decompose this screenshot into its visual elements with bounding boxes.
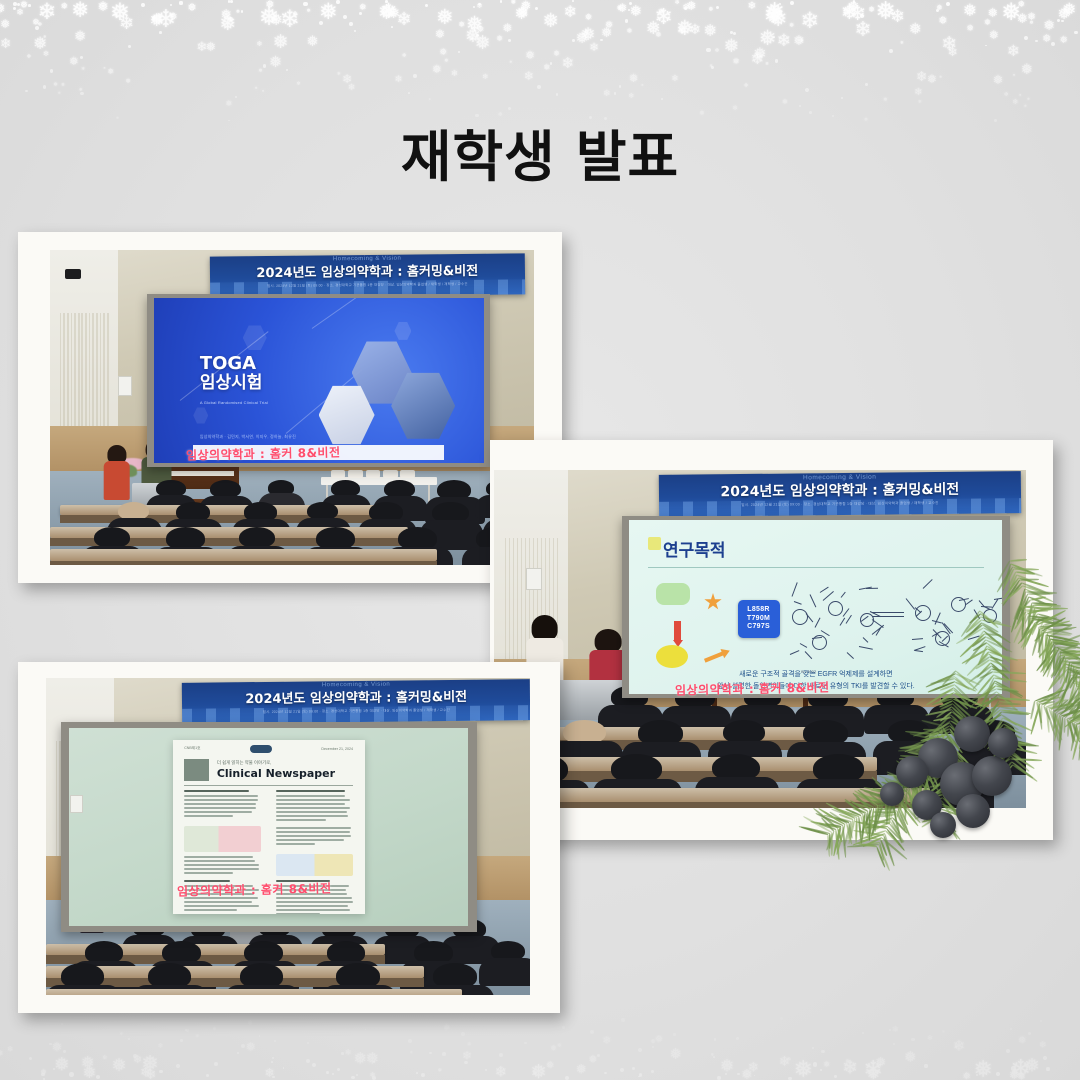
page-title: 재학생 발표	[0, 112, 1080, 192]
pine-needle	[1073, 723, 1079, 739]
wall-poster	[526, 568, 542, 590]
snow-dot	[354, 30, 356, 32]
pine-needle	[1053, 655, 1065, 676]
snowflake-icon: ❅	[900, 41, 904, 45]
snowflake-icon: ❅	[33, 36, 47, 53]
snow-dot	[736, 1037, 740, 1041]
snow-dot	[716, 6, 720, 10]
snow-dot	[651, 1070, 654, 1073]
snowflake-icon: ❄	[800, 10, 819, 33]
snow-dot	[1024, 36, 1028, 40]
snow-dot	[263, 64, 266, 67]
snow-dot	[821, 1050, 824, 1053]
snowflake-icon: ❅	[525, 50, 535, 62]
chemical-structure-left	[782, 583, 902, 661]
photo-card-clinical-newspaper[interactable]: Homecoming & Vision 2024년도 임상의약학과 : 홈커밍&…	[18, 662, 560, 1013]
pine-needle	[1068, 694, 1080, 712]
snowflake-icon: ❄	[348, 83, 356, 92]
snowflake-icon: ❅	[794, 1056, 813, 1079]
snowflake-icon: ❅	[629, 74, 639, 85]
snowflake-icon: ❅	[627, 28, 633, 35]
snow-dot	[812, 1047, 814, 1049]
snowflake-icon: ❄	[337, 72, 341, 77]
snow-dot	[35, 26, 39, 30]
presenter-body	[103, 461, 130, 500]
chemical-bond	[859, 586, 872, 589]
pine-needle	[1054, 699, 1069, 712]
snowflake-icon: ❅	[1017, 0, 1025, 9]
pine-needle	[1059, 648, 1080, 653]
snowflake-icon: ❄	[641, 84, 644, 87]
heading-bullet-icon	[648, 537, 661, 550]
chemical-structure-right	[905, 579, 1002, 659]
snow-dot	[652, 1046, 654, 1048]
snowflake-icon: ❅	[69, 56, 79, 68]
snow-dot	[214, 1062, 218, 1066]
pine-needle	[1053, 645, 1056, 669]
snowflake-icon: ❅	[306, 9, 310, 14]
snowflake-icon: ❅	[759, 28, 777, 49]
snowflake-icon: ❄	[477, 4, 483, 11]
snowflake-icon: ❄	[1010, 1053, 1031, 1078]
newsletter-text-line	[276, 799, 350, 801]
snow-dot	[337, 1068, 340, 1071]
snowflake-icon: ❅	[1029, 21, 1033, 26]
snow-dot	[230, 0, 233, 3]
projection-screen: 연구목적 L858R T790M C797S	[622, 516, 1010, 699]
snowflake-icon: ❅	[110, 1, 130, 25]
lecture-desk	[50, 549, 437, 560]
table-item	[331, 470, 346, 478]
pine-needle	[1059, 650, 1076, 653]
snowflake-icon: ❅	[205, 41, 215, 53]
wall-poster	[118, 376, 132, 396]
snowflake-icon: ❅	[576, 31, 589, 46]
snow-dot	[133, 1054, 137, 1058]
chemical-bond	[814, 618, 820, 629]
snow-dot	[473, 6, 475, 8]
pine-needle	[1059, 717, 1064, 751]
photo-card-toga[interactable]: Homecoming & Vision 2024년도 임상의약학과 : 홈커밍&…	[18, 232, 562, 583]
snow-dot	[936, 9, 939, 12]
pine-needle	[1058, 677, 1072, 705]
pine-needle	[1059, 716, 1062, 743]
snow-dot	[799, 105, 801, 107]
snowflake-icon: ❅	[1009, 1067, 1019, 1079]
snow-dot	[319, 21, 323, 25]
snowflake-icon: ❄	[942, 1028, 945, 1032]
diagram-green-shape	[656, 583, 690, 605]
newsletter-subheading	[184, 790, 249, 792]
snow-dot	[41, 1073, 45, 1077]
snowflake-icon: ❄	[517, 6, 529, 20]
ceiling-speaker-icon	[65, 269, 81, 279]
snow-dot	[862, 1032, 864, 1034]
newsletter-text-line	[184, 807, 256, 809]
chemical-bond	[845, 615, 851, 624]
snow-dot	[537, 85, 541, 89]
pine-needle	[1075, 668, 1077, 687]
lecture-desk	[46, 989, 462, 995]
chemical-ring	[935, 631, 950, 646]
pine-needle	[878, 845, 890, 871]
chemical-bond	[934, 613, 940, 625]
newsletter-spacer	[184, 913, 261, 914]
snowflake-icon: ❅	[581, 26, 596, 43]
snowflake-icon: ❅	[114, 14, 118, 19]
snowflake-icon: ❄	[748, 1059, 759, 1072]
snow-dot	[69, 1072, 73, 1076]
snowflake-icon: ❅	[20, 1, 28, 11]
snow-dot	[1061, 20, 1064, 23]
photo-image-research-objective: Homecoming & Vision 2024년도 임상의약학과 : 홈커밍&…	[494, 470, 1026, 808]
snow-dot	[535, 7, 538, 10]
event-banner: Homecoming & Vision 2024년도 임상의약학과 : 홈커밍&…	[210, 253, 525, 297]
pine-needle	[1068, 683, 1076, 706]
snowflake-icon: ❅	[402, 54, 407, 59]
newsletter-text-line	[276, 909, 350, 911]
snow-dot	[673, 1033, 675, 1035]
slide-heading: 연구목적	[663, 536, 726, 561]
snow-dot	[600, 39, 602, 41]
snowflake-icon: ❅	[378, 3, 395, 23]
slide-subtitle: A Global Randomised Clinical Trial	[200, 400, 268, 405]
chemical-bond	[809, 595, 816, 608]
snowflake-icon: ❄	[395, 75, 403, 84]
pine-needle	[1054, 715, 1061, 742]
snow-dot	[341, 1052, 344, 1055]
snowflake-icon: ❅	[550, 1043, 556, 1050]
snow-dot	[80, 92, 84, 96]
snowflake-icon: ❅	[141, 1050, 159, 1071]
snowflake-icon: ❄	[628, 93, 634, 100]
newsletter-text-line	[276, 905, 347, 907]
snowflake-icon: ❄	[58, 92, 61, 95]
snowflake-icon: ❅	[1024, 105, 1027, 108]
snow-dot	[976, 1074, 978, 1076]
snowflake-icon: ❅	[769, 8, 787, 30]
snow-dot	[834, 1076, 836, 1078]
snow-dot	[638, 1048, 642, 1052]
pine-needle	[1065, 661, 1070, 683]
snow-dot	[485, 1069, 488, 1072]
newsletter-figure	[276, 854, 353, 876]
snowflake-icon: ❅	[589, 1052, 598, 1063]
snow-dot	[272, 1076, 274, 1078]
pine-needle	[1064, 718, 1066, 733]
snowflake-icon: ❅	[764, 4, 783, 27]
snowflake-icon: ❄	[103, 67, 106, 70]
newsletter-text-line	[276, 843, 315, 845]
snow-dot	[159, 31, 162, 34]
photo-watermark: 임상의약학과 : 홈커 8&비전	[177, 879, 332, 899]
snowflake-icon: ❅	[220, 8, 232, 22]
snowflake-icon: ❅	[1043, 19, 1055, 33]
snowflake-icon: ❅	[269, 55, 282, 70]
snow-dot	[1057, 19, 1060, 22]
snow-dot	[259, 1035, 261, 1037]
reaction-arrow	[872, 612, 904, 613]
snow-dot	[50, 69, 54, 73]
snow-dot	[604, 1072, 606, 1074]
mutation-1: L858R	[747, 606, 770, 615]
snow-dot	[500, 0, 502, 2]
snowflake-icon: ❅	[465, 28, 481, 47]
pine-needle	[1068, 708, 1080, 721]
snow-dot	[533, 1071, 537, 1075]
snow-dot	[1035, 40, 1037, 42]
snowflake-icon: ❅	[868, 6, 875, 14]
snowflake-icon: ❄	[342, 74, 352, 86]
snow-dot	[1074, 31, 1077, 34]
snow-dot	[332, 1073, 334, 1075]
snowflake-icon: ❅	[733, 57, 740, 66]
snow-dot	[312, 1063, 316, 1067]
snowflake-icon: ❅	[1027, 13, 1036, 23]
snow-dot	[326, 1071, 329, 1074]
snowflake-icon: ❅	[52, 1040, 62, 1052]
snow-dot	[478, 3, 481, 6]
wall-slat	[505, 538, 507, 680]
snowflake-icon: ❄	[941, 36, 957, 55]
pine-needle	[1057, 672, 1070, 699]
snow-dot	[53, 1068, 55, 1070]
snow-dot	[714, 1038, 716, 1040]
snowflake-icon: ❄	[751, 52, 764, 68]
snowflake-icon: ❅	[107, 68, 114, 76]
photo-image-clinical-newspaper: Homecoming & Vision 2024년도 임상의약학과 : 홈커밍&…	[46, 678, 530, 995]
pine-needle	[1054, 652, 1059, 669]
snowflake-icon: ❄	[1007, 44, 1020, 59]
snowflake-icon: ❄	[140, 1064, 151, 1077]
snowflake-border-bottom: ❄❄❄❅❅❅❄❄❄❅❅❄❄❅❄❅❅❄❄❅❄❅❄❄❅❄❄❅❄❅❅❅❅❅❅❅❄❅❄❄…	[0, 1020, 1080, 1080]
snow-dot	[632, 1067, 635, 1070]
snowflake-icon: ❅	[553, 50, 560, 58]
snowflake-icon: ❄	[296, 82, 300, 87]
pine-needle	[1055, 633, 1080, 645]
chemical-bond	[912, 639, 923, 641]
snow-dot	[620, 1068, 624, 1072]
snowflake-icon: ❅	[875, 0, 896, 24]
snowflake-icon: ❅	[273, 33, 289, 52]
pine-needle	[1065, 652, 1080, 656]
pine-needle	[1069, 671, 1080, 674]
pine-needle	[1071, 722, 1080, 743]
snow-dot	[185, 1029, 187, 1031]
slide-toga: TOGA 임상시험 A Global Randomised Clinical T…	[154, 298, 484, 463]
snow-dot	[413, 74, 417, 78]
pine-needle	[1054, 712, 1063, 730]
pine-needle	[1058, 708, 1072, 715]
table-item	[383, 470, 398, 478]
snowflake-icon: ❅	[466, 14, 484, 35]
pine-needle	[1067, 713, 1080, 720]
snowflake-icon: ❅	[265, 0, 274, 11]
snowflake-icon: ❅	[543, 63, 550, 71]
masthead-graphic	[184, 759, 209, 782]
snowflake-icon: ❅	[81, 1053, 95, 1070]
snow-dot	[237, 1052, 239, 1054]
poster-canvas: ❅❅❄❅❅❄❅❅❅❅❅❄❅❄❅❄❅❅❅❅❅❄❄❅❅❅❄❅❅❄❄❅❄❅❅❅❅❄❅❅…	[0, 0, 1080, 1080]
snow-dot	[1011, 1066, 1015, 1070]
pine-needle	[1075, 682, 1080, 694]
banner-main-text: 2024년도 임상의약학과 : 홈커밍&비전	[245, 686, 467, 707]
snowflake-icon: ❅	[669, 1045, 682, 1060]
snow-dot	[614, 92, 616, 94]
newsletter-text-line	[276, 811, 347, 813]
pine-needle	[1070, 674, 1080, 686]
snowflake-icon: ❅	[720, 1056, 734, 1073]
pine-needle	[1063, 652, 1080, 657]
snowflake-icon: ❄	[682, 3, 689, 12]
snow-dot	[421, 1073, 425, 1077]
snowflake-icon: ❅	[520, 0, 531, 13]
pine-needle	[1073, 680, 1080, 686]
snowflake-icon: ❄	[603, 89, 611, 98]
snow-dot	[442, 1052, 446, 1056]
snow-dot	[619, 85, 621, 87]
snowflake-icon: ❅	[909, 22, 922, 37]
slide-divider	[648, 567, 984, 568]
pine-needle	[1054, 713, 1057, 729]
snowflake-icon: ❄	[777, 32, 791, 49]
pine-needle	[1053, 655, 1061, 670]
chemical-ring	[812, 635, 827, 650]
snow-dot	[152, 16, 156, 20]
snow-dot	[458, 51, 460, 53]
snow-dot	[508, 107, 511, 110]
snowflake-icon: ❄	[247, 1017, 252, 1023]
wall-slat	[513, 538, 515, 680]
snow-dot	[461, 1032, 465, 1036]
snow-dot	[274, 1040, 276, 1042]
snow-dot	[629, 2, 632, 5]
pine-needle	[1074, 662, 1080, 666]
newsletter-date: December 21, 2024	[321, 747, 353, 751]
snowflake-icon: ❅	[1013, 74, 1015, 77]
snowflake-icon: ❅	[676, 18, 694, 39]
chemical-bond	[859, 646, 872, 650]
chemical-bond	[992, 599, 999, 609]
newsletter-text-line	[184, 811, 252, 813]
snowflake-icon: ❅	[112, 1054, 127, 1072]
snow-dot	[711, 66, 714, 69]
snowflake-icon: ❄	[133, 1052, 142, 1063]
diagram-yellow-shape	[656, 645, 688, 668]
pine-needle	[1061, 707, 1080, 717]
photo-watermark: 임상의약학과 : 홈커 8&비전	[675, 678, 830, 698]
snow-dot	[499, 1053, 503, 1057]
snow-dot	[730, 31, 733, 34]
pine-needle	[1072, 697, 1080, 723]
newsletter-text-line	[184, 803, 255, 805]
photo-image-toga: Homecoming & Vision 2024년도 임상의약학과 : 홈커밍&…	[50, 250, 534, 565]
event-banner: Homecoming & Vision 2024년도 임상의약학과 : 홈커밍&…	[181, 679, 530, 724]
snowflake-icon: ❄	[748, 2, 757, 12]
newsletter-title: Clinical Newspaper	[217, 767, 335, 780]
snow-dot	[372, 1076, 376, 1080]
snowflake-icon: ❄	[156, 8, 176, 32]
mutation-3: C797S	[747, 623, 770, 632]
snow-dot	[889, 1029, 891, 1031]
snowflake-icon: ❅	[984, 18, 991, 26]
pine-needle	[1065, 708, 1080, 729]
snow-dot	[706, 48, 710, 52]
snowflake-icon: ❅	[883, 99, 887, 104]
snow-dot	[820, 1069, 822, 1071]
snowflake-icon: ❄	[1004, 93, 1009, 99]
snow-dot	[13, 7, 16, 10]
snow-dot	[773, 36, 775, 38]
chemical-bond	[847, 652, 854, 659]
pine-needle	[859, 844, 878, 848]
snowflake-icon: ❅	[655, 1032, 663, 1042]
star-icon	[704, 593, 722, 611]
snow-dot	[853, 0, 855, 2]
snow-dot	[717, 1076, 721, 1080]
snowflake-border-top: ❅❅❄❅❅❄❅❅❅❅❅❄❅❄❅❄❅❅❅❅❅❄❄❅❅❅❄❅❅❄❄❅❄❅❅❅❅❄❅❅…	[0, 0, 1080, 120]
photo-card-research-objective[interactable]: Homecoming & Vision 2024년도 임상의약학과 : 홈커밍&…	[490, 440, 1053, 840]
snowflake-icon: ❄	[467, 1040, 471, 1045]
snow-dot	[25, 90, 28, 93]
snowflake-icon: ❅	[989, 30, 999, 42]
snowflake-icon: ❅	[270, 13, 283, 29]
pine-needle	[1063, 705, 1080, 718]
pine-needle	[1056, 691, 1080, 714]
snowflake-icon: ❄	[195, 1032, 199, 1036]
pine-needle	[1070, 710, 1080, 722]
snowflake-icon: ❄	[863, 1056, 883, 1079]
snow-dot	[1040, 1020, 1042, 1022]
newsletter-subheading	[276, 790, 345, 792]
snow-dot	[725, 1073, 727, 1075]
chemical-bond	[823, 591, 834, 601]
snow-dot	[790, 1, 794, 5]
newsletter-text-line	[276, 839, 344, 841]
pine-needle	[1070, 671, 1080, 688]
chemical-ring	[792, 609, 808, 625]
snow-dot	[565, 1076, 569, 1080]
snowflake-icon: ❅	[514, 5, 528, 22]
snowflake-icon: ❅	[236, 10, 240, 15]
snowflake-icon: ❄	[564, 5, 577, 21]
snowflake-icon: ❅	[169, 13, 178, 23]
pine-needle	[1064, 663, 1080, 669]
snowflake-icon: ❄	[0, 37, 11, 51]
slide-title-kr: 임상시험	[200, 374, 263, 393]
snowflake-icon: ❄	[800, 39, 804, 44]
newsletter-divider	[184, 785, 353, 786]
snowflake-icon: ❄	[7, 1045, 13, 1053]
pine-needle	[1051, 638, 1066, 645]
chemical-ring	[915, 605, 931, 621]
snowflake-icon: ❅	[617, 6, 622, 12]
snowflake-icon: ❄	[145, 1067, 156, 1080]
table-item	[348, 470, 363, 478]
snow-dot	[141, 3, 145, 7]
snowflake-icon: ❅	[32, 18, 40, 27]
snowflake-icon: ❅	[0, 2, 6, 16]
snowflake-icon: ❄	[689, 22, 701, 36]
pine-needle	[1075, 721, 1080, 725]
snowflake-icon: ❅	[511, 0, 516, 7]
snowflake-icon: ❄	[345, 1048, 352, 1056]
pine-needle	[1068, 646, 1080, 660]
snow-dot	[385, 0, 388, 3]
snowflake-icon: ❄	[779, 1054, 790, 1067]
snow-dot	[241, 10, 244, 13]
pine-needle	[1061, 644, 1078, 652]
